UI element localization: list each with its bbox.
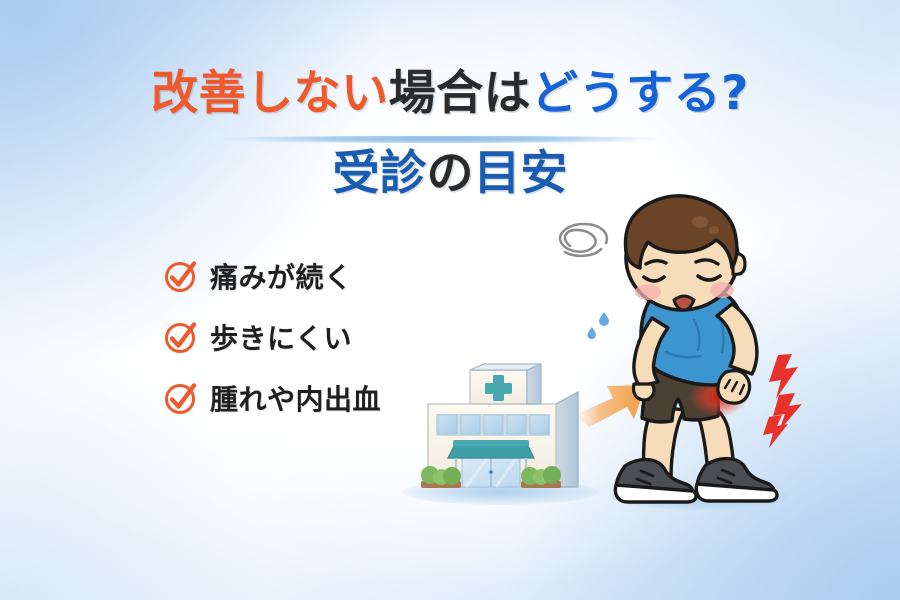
list-item: 腫れや内出血 [163, 370, 381, 425]
title-line-2: 受診の目安 [0, 148, 900, 200]
hospital-cross-icon [485, 375, 512, 401]
hospital-windows [438, 415, 549, 434]
pain-bolts [763, 354, 802, 448]
check-circle-icon [163, 259, 197, 293]
title-divider [166, 136, 714, 143]
subtitle-segment-dark: の [427, 146, 474, 201]
orange-arrow [575, 385, 646, 427]
hospital-bushes [421, 466, 561, 488]
infographic-canvas: 改善しない場合はどうする? 受診の目安 痛みが続く 歩きにくい [0, 0, 900, 600]
hand-gripping-thigh [718, 371, 750, 403]
sweat-drops [587, 293, 665, 339]
check-circle-icon [163, 381, 197, 415]
list-item-label: 腫れや内出血 [210, 378, 381, 418]
distress-swirl-icon [560, 224, 607, 256]
hospital-building [402, 364, 598, 505]
shoes [615, 459, 777, 502]
subtitle-segment-navy-1: 受診 [333, 146, 427, 201]
list-item-label: 痛みが続く [210, 256, 353, 296]
injured-boy-figure [560, 196, 788, 510]
list-item: 歩きにくい [163, 309, 381, 364]
symptom-checklist: 痛みが続く 歩きにくい 腫れや内出血 [163, 248, 381, 431]
title-line-1: 改善しない場合はどうする? [0, 68, 900, 120]
title-segment-orange: 改善しない [151, 66, 389, 121]
subtitle-segment-navy-2: 目安 [474, 146, 568, 201]
list-item: 痛みが続く [163, 248, 381, 303]
title-block: 改善しない場合はどうする? [0, 68, 900, 120]
check-circle-icon [163, 320, 197, 354]
title-segment-dark: 場合は [389, 66, 532, 121]
list-item-label: 歩きにくい [210, 317, 352, 357]
title-segment-blue: どうする? [531, 66, 749, 121]
